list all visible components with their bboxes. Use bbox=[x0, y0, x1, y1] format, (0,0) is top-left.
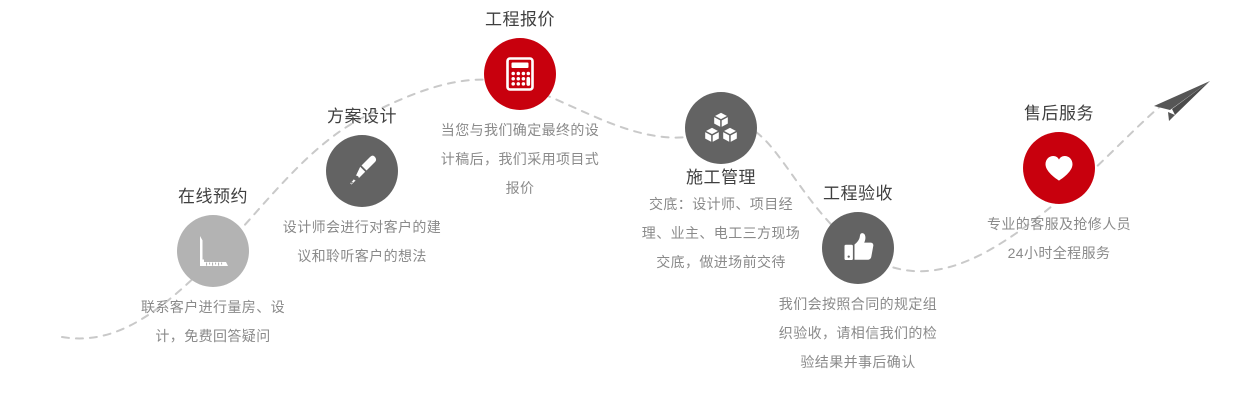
step-description: 我们会按照合同的规定组织验收，请相信我们的检验结果并事后确认 bbox=[772, 290, 944, 377]
step-title: 工程报价 bbox=[420, 8, 620, 32]
step-description: 当您与我们确定最终的设计稿后，我们采用项目式报价 bbox=[440, 116, 600, 203]
set-square-ruler-icon bbox=[177, 215, 249, 287]
step-description: 设计师会进行对客户的建议和聆听客户的想法 bbox=[282, 213, 442, 271]
process-step-3[interactable]: 工程报价 当您与我们确定最终的 bbox=[420, 8, 620, 203]
calculator-icon bbox=[484, 38, 556, 110]
fountain-pen-icon bbox=[326, 135, 398, 207]
step-description: 专业的客服及抢修人员24小时全程服务 bbox=[979, 210, 1139, 268]
process-step-5[interactable]: 工程验收 我们会按照合同的规定组织验收，请相信我们的检验结果并事后确认 bbox=[758, 182, 958, 377]
step-description: 联系客户进行量房、设计，免费回答疑问 bbox=[133, 293, 293, 351]
thumbs-up-icon bbox=[822, 212, 894, 284]
step-title: 工程验收 bbox=[758, 182, 958, 206]
process-flow-infographic: 在线预约 联系客户进行量房、设计，免费回答疑问 方案设计 bbox=[0, 0, 1245, 402]
heart-icon bbox=[1023, 132, 1095, 204]
paper-plane-icon bbox=[1148, 78, 1214, 128]
step-title: 售后服务 bbox=[959, 102, 1159, 126]
process-step-6[interactable]: 售后服务 专业的客服及抢修人员24小时全程服务 bbox=[959, 102, 1159, 268]
boxes-icon bbox=[685, 92, 757, 164]
